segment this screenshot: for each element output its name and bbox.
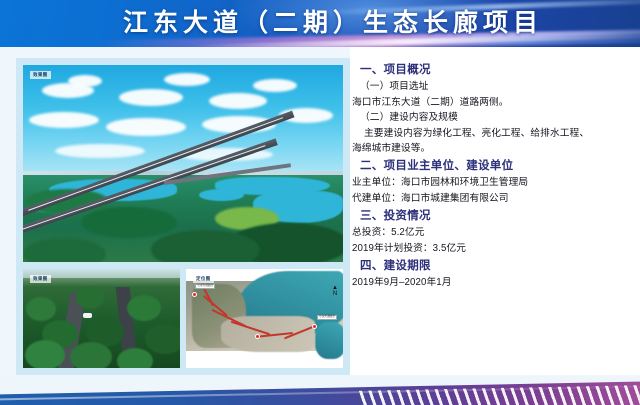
sea-region-2 bbox=[315, 322, 343, 360]
water-body bbox=[199, 189, 244, 201]
section-line: 2019年9月–2020年1月 bbox=[352, 276, 632, 289]
cloud bbox=[68, 75, 102, 87]
cloud bbox=[119, 89, 183, 106]
hero-rendering-image: 效果图 bbox=[23, 65, 343, 262]
north-arrow-icon: ▲N bbox=[332, 285, 338, 296]
vegetation bbox=[23, 238, 106, 262]
slide-body: 效果图 效果图 bbox=[0, 47, 640, 375]
map-label-start: 江东大道起点 bbox=[195, 284, 215, 290]
palm-canopy bbox=[76, 287, 104, 309]
cloud bbox=[164, 73, 210, 86]
map-caption: 定位图 bbox=[193, 275, 214, 283]
section-line: 主要建设内容为绿化工程、亮化工程、给排水工程、 bbox=[364, 127, 632, 140]
hero-caption: 效果图 bbox=[30, 71, 51, 79]
section-heading: 一、项目概况 bbox=[360, 63, 632, 78]
map-label-end: 江东大道终点 bbox=[317, 315, 337, 321]
palm-canopy bbox=[70, 342, 112, 368]
cloud bbox=[209, 93, 267, 109]
section-line: （一）项目选址 bbox=[360, 80, 632, 93]
section-line: 业主单位：海口市园林和环境卫生管理局 bbox=[352, 176, 632, 189]
page-title: 江东大道（二期）生态长廊项目 bbox=[0, 0, 640, 47]
vegetation bbox=[81, 207, 177, 239]
title-banner: 江东大道（二期）生态长廊项目 bbox=[0, 0, 640, 47]
satellite-imagery: 江东大道起点 江东大道终点 ▲N bbox=[186, 281, 343, 351]
section-line: 海绵城市建设等。 bbox=[352, 142, 632, 155]
white-car bbox=[83, 313, 92, 318]
section-line: （二）建设内容及规模 bbox=[360, 111, 632, 124]
palm-canopy bbox=[25, 340, 65, 368]
photo-card: 效果图 效果图 bbox=[16, 58, 350, 375]
secondary-photo-row: 效果图 江东大道起点 bbox=[23, 269, 343, 368]
palm-canopy bbox=[117, 348, 153, 368]
footer-decoration-bar bbox=[0, 375, 640, 405]
cloud bbox=[253, 79, 297, 92]
section-line: 总投资：5.2亿元 bbox=[352, 226, 632, 239]
section-line: 2019年计划投资：3.5亿元 bbox=[352, 242, 632, 255]
project-info-text: 一、项目概况（一）项目选址海口市江东大道（二期）道路两侧。（二）建设内容及规模主… bbox=[352, 59, 638, 369]
vegetation bbox=[151, 230, 260, 262]
section-heading: 二、项目业主单位、建设单位 bbox=[360, 159, 632, 174]
section-line: 海口市江东大道（二期）道路两侧。 bbox=[352, 96, 632, 109]
palm-canopy bbox=[127, 295, 161, 321]
section-line: 代建单位：海口市城建集团有限公司 bbox=[352, 192, 632, 205]
cloud bbox=[55, 144, 145, 158]
palm-canopy bbox=[26, 297, 56, 321]
section-heading: 三、投资情况 bbox=[360, 209, 632, 224]
palm-road-photo: 效果图 bbox=[23, 269, 180, 368]
palm-canopy bbox=[145, 324, 180, 354]
section-heading: 四、建设期限 bbox=[360, 259, 632, 274]
location-map-photo: 江东大道起点 江东大道终点 ▲N 定位图 bbox=[186, 269, 343, 368]
palm-photo-caption: 效果图 bbox=[30, 275, 51, 283]
